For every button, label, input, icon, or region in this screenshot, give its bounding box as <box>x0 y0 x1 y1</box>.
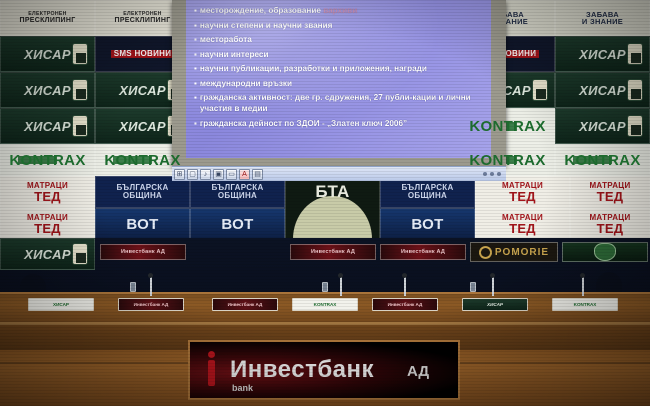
water-glass <box>470 282 476 292</box>
microphone <box>340 276 342 296</box>
logo-label: SMS НОВИНИ <box>111 50 175 58</box>
podium-suffix: АД <box>407 363 429 380</box>
start-icon[interactable]: ⊞ <box>174 169 185 180</box>
hisar-bottle-icon <box>72 43 88 65</box>
placard-label: Инвестбанк АД <box>121 249 165 255</box>
logo-line-2: ТЕД <box>589 190 630 203</box>
desk-edge <box>0 322 650 325</box>
bullet-icon: ▪ <box>194 5 197 16</box>
projection-screen[interactable]: ▪ месторождение, образование вархиви ▪ н… <box>186 0 491 158</box>
window-icon[interactable]: ▢ <box>187 169 198 180</box>
logo-label: ХИСАР <box>119 120 166 133</box>
logo-tile-vot: ВОТ <box>95 208 190 240</box>
screenshot-stage: ЕЛЕКТРОНЕН ПРЕСКЛИПИНГ ЕЛЕКТРОНЕН ПРЕСКЛ… <box>0 0 650 406</box>
media-icon[interactable]: ♪ <box>200 169 211 180</box>
hisar-bottle-icon <box>627 79 643 101</box>
podium-subtitle: bank <box>232 383 253 393</box>
placard-hisar-green <box>562 242 648 262</box>
logo-line-2: ТЕД <box>502 222 543 235</box>
table-placard-investbank: Инвестбанк АД <box>118 298 184 311</box>
logo-tile-hisar: ХИСАР <box>0 36 95 72</box>
explorer-icon[interactable]: ▤ <box>252 169 263 180</box>
logo-line-2: ТЕД <box>27 190 68 203</box>
logo-label: ХИСАР <box>579 84 626 97</box>
placard-investbank: Инвестбанк АД <box>380 244 466 260</box>
placard-investbank: Инвестбанк АД <box>290 244 376 260</box>
logo-line-2: ПРЕСКЛИПИНГ <box>19 17 75 24</box>
logo-tile-kontrax: KONTRAX <box>0 144 95 176</box>
slide-bullet-text: месторабота <box>200 34 252 45</box>
logo-tile-matraci-ted: МАТРАЦИ ТЕД <box>475 208 570 240</box>
app-icon[interactable]: ▣ <box>213 169 224 180</box>
system-tray[interactable] <box>483 172 504 176</box>
logo-tile-bta: БТА <box>285 176 380 240</box>
logo-line-2: ОБЩИНА <box>116 192 168 200</box>
pomorie-ring-icon <box>479 246 492 259</box>
water-glass <box>322 282 328 292</box>
logo-tile-matraci-ted: МАТРАЦИ ТЕД <box>0 176 95 208</box>
doc-icon[interactable]: ▭ <box>226 169 237 180</box>
table-placard-kontrax: KONTRAX <box>292 298 358 311</box>
logo-label: ВОТ <box>126 217 158 232</box>
placard-pomorie: POMORIE <box>470 242 558 262</box>
logo-tile-hisar: ХИСАР <box>0 238 95 270</box>
podium-brand: Инвестбанк <box>230 356 374 384</box>
placard-label: KONTRAX <box>314 302 337 307</box>
slide-bullet: ▪ научни публикации, разработки и прилож… <box>194 63 483 74</box>
logo-tile-hisar: ХИСАР <box>555 72 650 108</box>
hisar-bottle-icon <box>627 43 643 65</box>
logo-line-2: ТЕД <box>27 222 68 235</box>
water-glass <box>130 282 136 292</box>
placard-label: Инвестбанк АД <box>401 249 445 255</box>
logo-label: KONTRAX <box>564 153 640 168</box>
logo-label: ХИСАР <box>579 48 626 61</box>
logo-line-2: ТЕД <box>589 222 630 235</box>
logo-line-2: ОБЩИНА <box>211 192 263 200</box>
slide-bullet: ▪ международни връзки <box>194 78 483 89</box>
slide-bullet: ▪ месторабота <box>194 34 483 45</box>
bullet-icon: ▪ <box>194 20 197 31</box>
placard-label: ХИСАР <box>53 302 69 307</box>
logo-tile-vot: ВОТ <box>190 208 285 240</box>
logo-label: ВОТ <box>221 217 253 232</box>
hisar-bottle-icon <box>627 115 643 137</box>
bullet-icon: ▪ <box>194 34 197 45</box>
slide-bullet: ▪ научни интереси <box>194 49 483 60</box>
microphone <box>150 276 152 296</box>
placard-label: ХИСАР <box>487 302 503 307</box>
logo-tile-matraci-ted: МАТРАЦИ ТЕД <box>570 176 650 208</box>
slide-bullet: ▪ научни степени и научни звания <box>194 20 483 31</box>
table-placard-investbank: Инвестбанк АД <box>372 298 438 311</box>
investbank-i-icon <box>208 360 215 386</box>
slide-bullet: ▪ месторождение, образование вархиви <box>194 5 483 16</box>
podium-sign: Инвестбанк АД bank <box>188 340 460 400</box>
logo-label: ХИСАР <box>119 84 166 97</box>
logo-line-2: ОБЩИНА <box>401 192 453 200</box>
logo-label: KONTRAX <box>469 153 545 168</box>
tray-dot-icon <box>483 172 487 176</box>
presentation-slide: ▪ месторождение, образование вархиви ▪ н… <box>186 0 491 158</box>
slide-bullet-text: научни интереси <box>200 49 269 60</box>
hisar-bottle-icon <box>72 79 88 101</box>
hisar-bottle-icon <box>72 115 88 137</box>
hisar-bottle-icon <box>532 79 548 101</box>
logo-label: ХИСАР <box>24 48 71 61</box>
podium-sign-inner: Инвестбанк АД bank <box>190 342 458 398</box>
bullet-icon: ▪ <box>194 118 197 129</box>
logo-tile-matraci-ted: МАТРАЦИ ТЕД <box>570 208 650 240</box>
placard-label: Инвестбанк АД <box>228 302 263 307</box>
slide-bullet-text: научни степени и научни звания <box>200 20 333 31</box>
logo-tile-pressclipping: ЕЛЕКТРОНЕН ПРЕСКЛИПИНГ <box>0 0 95 36</box>
logo-tile-hisar: ХИСАР <box>555 108 650 144</box>
bullet-icon: ▪ <box>194 78 197 89</box>
slide-bullet-text: международни връзки <box>200 78 292 89</box>
logo-label: ХИСАР <box>24 84 71 97</box>
logo-label: ХИСАР <box>24 120 71 133</box>
tray-dot-icon <box>490 172 494 176</box>
logo-label: ХИСАР <box>579 120 626 133</box>
placard-label: Инвестбанк АД <box>134 302 169 307</box>
slide-bullet: ▪ гражданска активност: две гр. сдружени… <box>194 92 483 114</box>
tray-dot-icon <box>497 172 501 176</box>
logo-tile-hisar: ХИСАР <box>0 108 95 144</box>
bullet-icon: ▪ <box>194 49 197 60</box>
slide-bullet: ▪ гражданска дейност по ЗДОИ - „Златен к… <box>194 118 483 129</box>
windows-taskbar[interactable]: ⊞ ▢ ♪ ▣ ▭ A ▤ <box>172 166 506 181</box>
logo-tile-hisar: ХИСАР <box>0 72 95 108</box>
logo-tile-matraci-ted: МАТРАЦИ ТЕД <box>0 208 95 240</box>
slide-bullet-faded: вархиви <box>323 6 357 15</box>
projection-screen-frame: ▪ месторождение, образование вархиви ▪ н… <box>172 0 506 166</box>
microphone <box>404 276 406 296</box>
table-placard-hisar: ХИСАР <box>462 298 528 311</box>
slide-bullet-text: месторождение, образование вархиви <box>200 5 357 16</box>
bta-arc-icon <box>293 196 371 239</box>
bullet-icon: ▪ <box>194 63 197 74</box>
table-placard-hisar: ХИСАР <box>28 298 94 311</box>
logo-tile-vot: ВОТ <box>380 208 475 240</box>
hisar-bottle-icon <box>72 243 88 265</box>
placard-label: Инвестбанк АД <box>388 302 423 307</box>
logo-label: ВОТ <box>411 217 443 232</box>
table-placard-investbank: Инвестбанк АД <box>212 298 278 311</box>
pdf-icon[interactable]: A <box>239 169 250 180</box>
logo-line-2: И ЗНАНИЕ <box>582 18 623 26</box>
placard-label: POMORIE <box>495 247 549 258</box>
logo-label: KONTRAX <box>9 153 85 168</box>
logo-label: KONTRAX <box>469 119 545 134</box>
logo-line-2: ПРЕСКЛИПИНГ <box>114 17 170 24</box>
table-placard-kontrax: KONTRAX <box>552 298 618 311</box>
logo-tile-zabava: ЗАБАВА И ЗНАНИЕ <box>555 0 650 36</box>
logo-tile-hisar: ХИСАР <box>555 36 650 72</box>
microphone <box>492 276 494 296</box>
bullet-icon: ▪ <box>194 92 197 103</box>
slide-bullet-text: научни публикации, разработки и приложен… <box>200 63 427 74</box>
slide-bullet-text: гражданска дейност по ЗДОИ - „Златен клю… <box>200 118 407 129</box>
logo-line-2: ТЕД <box>502 190 543 203</box>
logo-label: KONTRAX <box>104 153 180 168</box>
microphone <box>582 276 584 296</box>
shield-icon <box>594 243 616 261</box>
placard-label: Инвестбанк АД <box>311 249 355 255</box>
logo-label: ХИСАР <box>24 248 71 261</box>
placard-label: KONTRAX <box>574 302 597 307</box>
slide-bullet-text: гражданска активност: две гр. сдружения,… <box>200 92 483 114</box>
placard-investbank: Инвестбанк АД <box>100 244 186 260</box>
logo-tile-kontrax: KONTRAX <box>555 144 650 176</box>
logo-label: БТА <box>286 183 379 200</box>
